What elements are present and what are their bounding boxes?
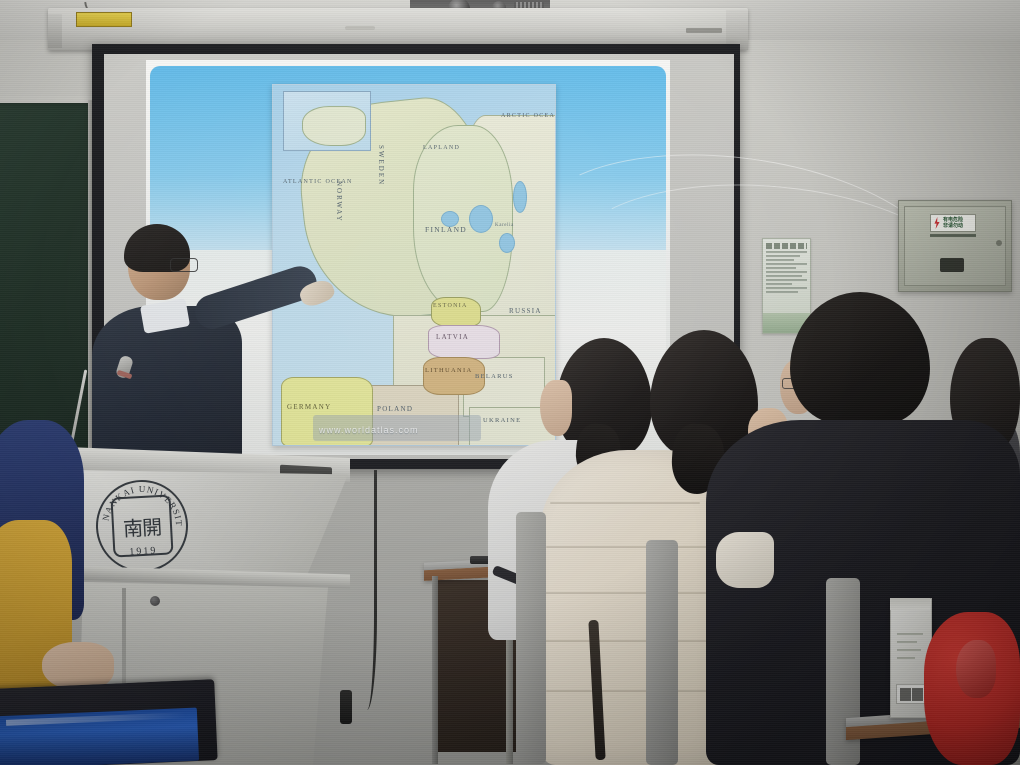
chair-back-center: [646, 540, 678, 765]
presenter-glasses-icon: [170, 258, 198, 272]
notice-line: [766, 275, 802, 277]
map-lake: [499, 233, 515, 253]
jacket-seam: [544, 640, 716, 642]
notice-line: [766, 279, 807, 281]
wall-notice-schedule: [762, 238, 811, 334]
notice-line: [766, 271, 807, 273]
map-country-finland: [413, 125, 513, 312]
svg-text:NANKAI UNIVERSITY: NANKAI UNIVERSITY: [96, 480, 184, 532]
jacket-seam: [546, 690, 714, 692]
notice-line: [766, 287, 807, 289]
carton-top-fold: [890, 598, 930, 610]
notice-line: [766, 291, 798, 293]
carton-text-line: [897, 649, 921, 651]
student-1-face: [540, 380, 572, 436]
warning-line-2: 非请勿动: [943, 223, 963, 229]
map-country-estonia: [431, 297, 481, 327]
map-lake: [469, 205, 493, 233]
student-2-puffer-jacket: [540, 450, 730, 765]
jacket-seam: [550, 502, 700, 504]
barcode-icon: [912, 688, 923, 701]
jacket-seam: [546, 546, 708, 548]
carton-text-line: [897, 657, 915, 659]
electrical-warning-text: 有电危险 非请勿动: [943, 217, 963, 229]
map-lake: [441, 211, 459, 227]
carton-text-line: [897, 641, 917, 643]
roller-brand-mark: [686, 28, 722, 33]
student-5-hand: [42, 642, 114, 690]
map-inset-frame: [283, 91, 371, 151]
desk-leg: [432, 576, 438, 764]
map-country-latvia: [428, 325, 500, 359]
map-of-northern-europe: ATLANTIC OCEAN ARCTIC OCEAN NORWAY SWEDE…: [272, 84, 556, 446]
nankai-university-seal: 南開 NANKAI UNIVERSITY 1919: [94, 478, 191, 575]
power-cable: [352, 470, 377, 710]
carton-recycle-label: [896, 684, 926, 704]
roller-notch: [345, 26, 375, 30]
roller-end-cap-left: [48, 14, 62, 48]
map-lake: [513, 181, 527, 213]
map-inset-iceland: [302, 106, 366, 146]
warning-underline: [930, 234, 976, 237]
electrical-warning-label: 有电危险 非请勿动: [930, 214, 976, 232]
student-3-inner-collar: [716, 532, 774, 588]
lightning-bolt-icon: [933, 217, 941, 229]
roller-warning-label: [76, 12, 132, 27]
jacket-seam: [544, 592, 714, 594]
notice-line: [766, 259, 794, 261]
map-watermark: www.worldatlas.com: [319, 423, 469, 437]
notice-line: [766, 267, 796, 269]
notice-line: [766, 283, 792, 285]
electrical-panel-lock-icon[interactable]: [940, 258, 964, 272]
recycle-icon: [900, 688, 911, 701]
classroom-photo: ATLANTIC OCEAN ARCTIC OCEAN NORWAY SWEDE…: [0, 0, 1020, 765]
red-bag-fold: [956, 640, 996, 698]
map-country-lithuania: [423, 357, 485, 395]
chair-back-left: [516, 512, 546, 764]
notice-line: [766, 251, 807, 253]
notice-line: [766, 263, 807, 265]
power-plug: [340, 690, 352, 724]
notice-line: [766, 255, 800, 257]
notice-title-bar: [766, 243, 807, 249]
podium-bevel: [48, 470, 348, 578]
podium-knob[interactable]: [150, 596, 160, 606]
electrical-panel-hinge: [996, 240, 1002, 246]
carton-text-line: [897, 633, 923, 635]
